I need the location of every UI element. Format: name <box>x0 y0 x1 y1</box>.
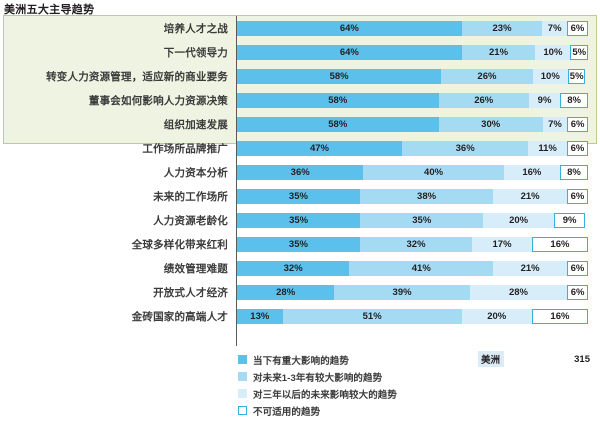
series-3-swatch <box>238 389 247 398</box>
bar-segment-series-1: 28% <box>237 285 334 300</box>
legend-label: 不可适用的趋势 <box>253 404 320 418</box>
sample-region-label: 美洲 <box>478 351 504 367</box>
bar-segment-series-2: 26% <box>441 69 533 84</box>
table-row: 未来的工作场所35%38%21%6% <box>0 184 600 208</box>
legend-item-1[interactable]: 当下有重大影响的趋势 <box>238 351 488 368</box>
bar-row-label: 人力资源老龄化 <box>0 213 236 228</box>
bar-segment-series-4: 6% <box>567 21 588 36</box>
table-row: 全球多样化带来红利35%32%17%16% <box>0 232 600 256</box>
bar-segment-series-3: 7% <box>543 117 567 132</box>
table-row: 董事会如何影响人力资源决策58%26%9%8% <box>0 88 600 112</box>
bar-segment-series-4: 6% <box>567 141 588 156</box>
bar-segment-series-4: 6% <box>567 189 588 204</box>
bar-segment-series-3: 28% <box>470 285 567 300</box>
bar-segment-series-4: 6% <box>567 285 588 300</box>
table-row: 工作场所品牌推广47%36%11%6% <box>0 136 600 160</box>
bar-track: 36%40%16%8% <box>236 165 588 180</box>
table-row: 金砖国家的高端人才13%51%20%16% <box>0 304 600 328</box>
bar-row-label: 人力资本分析 <box>0 165 236 180</box>
bar-segment-series-2: 30% <box>439 117 543 132</box>
bar-track: 35%38%21%6% <box>236 189 588 204</box>
bar-segment-series-3: 9% <box>529 93 560 108</box>
bar-segment-series-1: 47% <box>237 141 402 156</box>
bar-segment-series-3: 11% <box>528 141 567 156</box>
legend-item-2[interactable]: 对未来1-3年有较大影响的趋势 <box>238 368 488 385</box>
bar-row-label: 组织加速发展 <box>0 117 236 132</box>
bar-segment-series-1: 58% <box>237 69 441 84</box>
bar-segment-series-2: 39% <box>334 285 470 300</box>
bar-row-label: 开放式人才经济 <box>0 285 236 300</box>
bar-segment-series-3: 17% <box>472 237 532 252</box>
bar-row-label: 未来的工作场所 <box>0 189 236 204</box>
bar-segment-series-1: 64% <box>237 21 462 36</box>
bar-segment-series-4: 8% <box>560 93 588 108</box>
bar-segment-series-3: 20% <box>483 213 553 228</box>
table-row: 组织加速发展58%30%7%6% <box>0 112 600 136</box>
bar-segment-series-2: 38% <box>360 189 493 204</box>
bar-row-label: 金砖国家的高端人才 <box>0 309 236 324</box>
bar-segment-series-2: 40% <box>363 165 503 180</box>
bar-row-label: 培养人才之战 <box>0 21 236 36</box>
bar-segment-series-1: 58% <box>237 117 439 132</box>
bar-segment-series-2: 36% <box>402 141 528 156</box>
table-row: 转变人力资源管理，适应新的商业要务58%26%10%5% <box>0 64 600 88</box>
sample-size-panel: 美洲 315 <box>478 352 590 366</box>
bar-track: 47%36%11%6% <box>236 141 588 156</box>
bar-segment-series-3: 7% <box>542 21 567 36</box>
bar-track: 13%51%20%16% <box>236 309 588 324</box>
bar-track: 35%35%20%9% <box>236 213 588 228</box>
bar-segment-series-4: 6% <box>567 261 588 276</box>
bar-segment-series-4: 16% <box>532 309 588 324</box>
table-row: 人力资本分析36%40%16%8% <box>0 160 600 184</box>
bar-track: 58%26%9%8% <box>236 93 588 108</box>
bar-row-label: 全球多样化带来红利 <box>0 237 236 252</box>
bar-rows-container: 培养人才之战64%23%7%6%下一代领导力64%21%10%5%转变人力资源管… <box>0 16 600 328</box>
bar-segment-series-1: 64% <box>237 45 462 60</box>
sample-size-value: 315 <box>574 354 590 365</box>
table-row: 开放式人才经济28%39%28%6% <box>0 280 600 304</box>
bar-segment-series-3: 10% <box>533 69 568 84</box>
bar-segment-series-3: 20% <box>462 309 532 324</box>
bar-row-label: 下一代领导力 <box>0 45 236 60</box>
series-4-swatch <box>238 406 247 415</box>
table-row: 培养人才之战64%23%7%6% <box>0 16 600 40</box>
bar-track: 64%23%7%6% <box>236 21 588 36</box>
bar-segment-series-4: 16% <box>532 237 588 252</box>
table-row: 人力资源老龄化35%35%20%9% <box>0 208 600 232</box>
bar-segment-series-2: 32% <box>360 237 472 252</box>
bar-segment-series-4: 6% <box>567 117 588 132</box>
bar-segment-series-1: 58% <box>237 93 439 108</box>
bar-track: 64%21%10%5% <box>236 45 588 60</box>
series-2-swatch <box>238 372 247 381</box>
bar-row-label: 转变人力资源管理，适应新的商业要务 <box>0 69 236 84</box>
bar-segment-series-2: 23% <box>462 21 543 36</box>
bar-segment-series-3: 21% <box>493 189 567 204</box>
bar-row-label: 工作场所品牌推广 <box>0 141 236 156</box>
bar-track: 58%26%10%5% <box>236 69 588 84</box>
bar-track: 35%32%17%16% <box>236 237 588 252</box>
bar-track: 28%39%28%6% <box>236 285 588 300</box>
bar-segment-series-2: 41% <box>349 261 493 276</box>
bar-segment-series-2: 26% <box>439 93 529 108</box>
bar-segment-series-2: 51% <box>283 309 462 324</box>
bar-row-label: 董事会如何影响人力资源决策 <box>0 93 236 108</box>
bar-segment-series-2: 21% <box>462 45 536 60</box>
bar-segment-series-4: 5% <box>570 45 588 60</box>
legend-item-4[interactable]: 不可适用的趋势 <box>238 402 488 419</box>
chart-root: 美洲五大主导趋势 培养人才之战64%23%7%6%下一代领导力64%21%10%… <box>0 0 600 421</box>
bar-row-label: 绩效管理难题 <box>0 261 236 276</box>
bar-segment-series-4: 5% <box>568 69 586 84</box>
bar-segment-series-4: 9% <box>554 213 586 228</box>
series-1-swatch <box>238 355 247 364</box>
table-row: 绩效管理难题32%41%21%6% <box>0 256 600 280</box>
bar-segment-series-2: 35% <box>360 213 483 228</box>
bar-track: 58%30%7%6% <box>236 117 588 132</box>
table-row: 下一代领导力64%21%10%5% <box>0 40 600 64</box>
bar-segment-series-3: 16% <box>504 165 560 180</box>
bar-segment-series-1: 13% <box>237 309 283 324</box>
bar-track: 32%41%21%6% <box>236 261 588 276</box>
bar-segment-series-1: 35% <box>237 213 360 228</box>
bar-segment-series-3: 10% <box>535 45 570 60</box>
chart-legend: 当下有重大影响的趋势对未来1-3年有较大影响的趋势对三年以后的未来影响较大的趋势… <box>238 351 488 419</box>
bar-segment-series-1: 32% <box>237 261 349 276</box>
legend-label: 对未来1-3年有较大影响的趋势 <box>253 370 382 384</box>
bar-segment-series-1: 35% <box>237 189 360 204</box>
legend-label: 当下有重大影响的趋势 <box>253 353 349 367</box>
bar-segment-series-1: 35% <box>237 237 360 252</box>
bar-segment-series-4: 8% <box>560 165 588 180</box>
bar-segment-series-3: 21% <box>493 261 567 276</box>
legend-item-3[interactable]: 对三年以后的未来影响较大的趋势 <box>238 385 488 402</box>
legend-label: 对三年以后的未来影响较大的趋势 <box>253 387 397 401</box>
bar-segment-series-1: 36% <box>237 165 363 180</box>
